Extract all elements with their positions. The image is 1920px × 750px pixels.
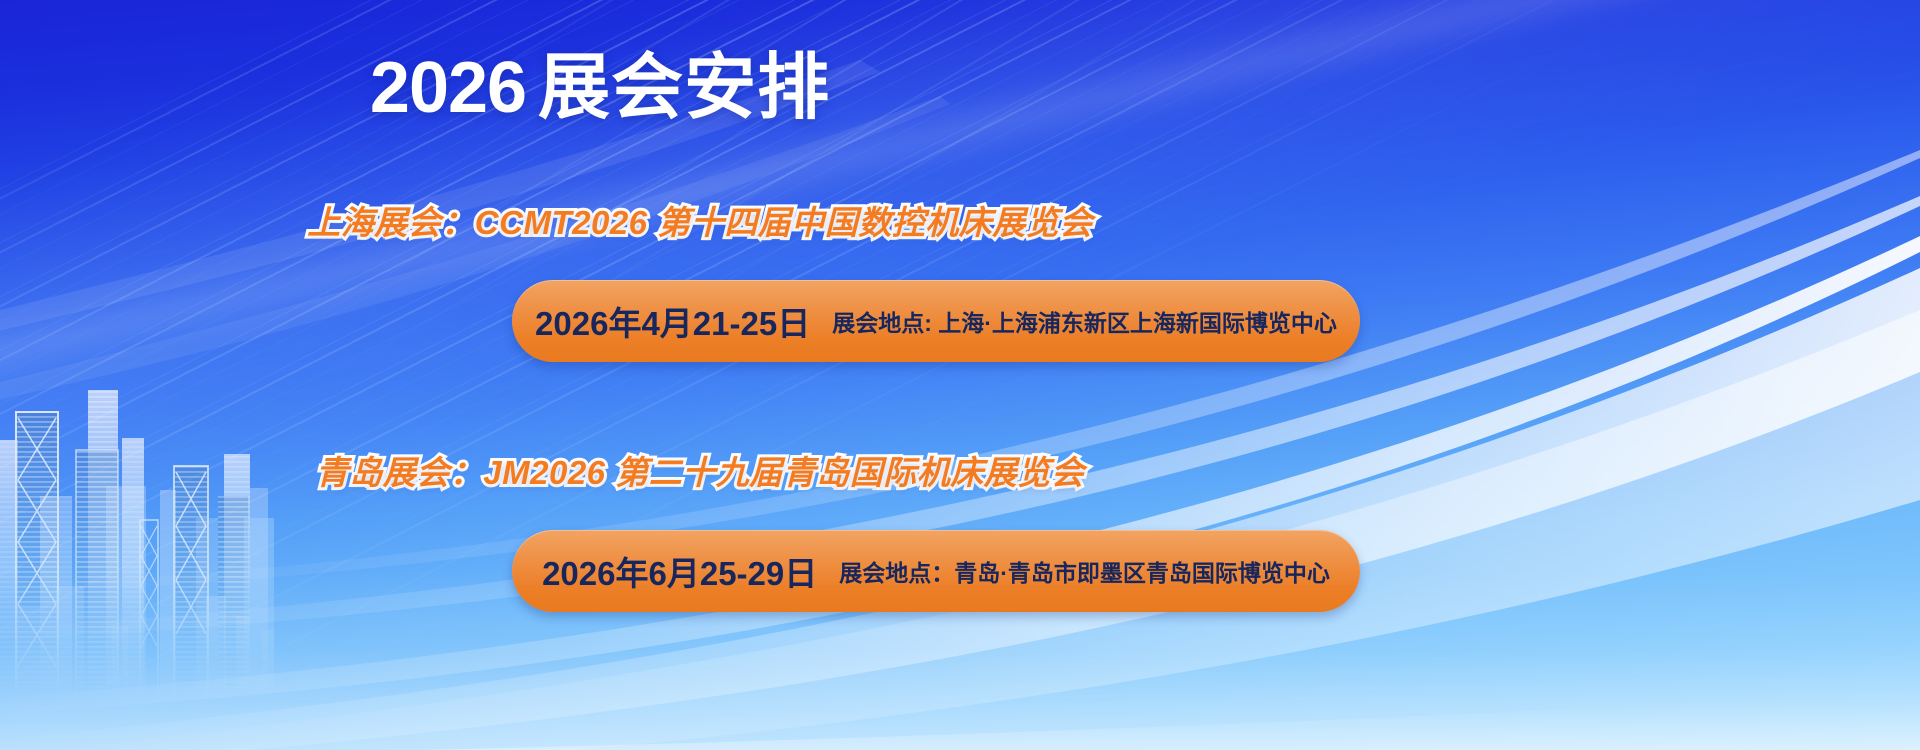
event-date-qingdao: 2026年6月25-29日 [542,547,817,595]
event-block-qingdao: 青岛展会：JM2026 第二十九届青岛国际机床展览会 2026年6月25-29日… [0,452,1400,493]
page-title: 2026展会安排 [0,52,1200,124]
event-venue-qingdao: 展会地点：青岛·青岛市即墨区青岛国际博览中心 [839,554,1330,588]
banner-content: 2026展会安排 上海展会：CCMT2026 第十四届中国数控机床展览会 202… [0,0,1920,750]
event-heading-shanghai: 上海展会：CCMT2026 第十四届中国数控机床展览会 [0,202,1400,243]
event-venue-shanghai: 展会地点: 上海·上海浦东新区上海新国际博览中心 [832,304,1337,338]
event-block-shanghai: 上海展会：CCMT2026 第十四届中国数控机床展览会 2026年4月21-25… [0,202,1400,243]
exhibition-schedule-banner: 2026展会安排 上海展会：CCMT2026 第十四届中国数控机床展览会 202… [0,0,1920,750]
page-title-text: 展会安排 [538,48,830,128]
event-info-pill-shanghai[interactable]: 2026年4月21-25日 展会地点: 上海·上海浦东新区上海新国际博览中心 [512,280,1360,362]
event-date-shanghai: 2026年4月21-25日 [535,297,810,345]
event-info-pill-qingdao[interactable]: 2026年6月25-29日 展会地点：青岛·青岛市即墨区青岛国际博览中心 [512,530,1360,612]
event-heading-qingdao: 青岛展会：JM2026 第二十九届青岛国际机床展览会 [0,452,1400,493]
page-title-year: 2026 [370,48,526,128]
